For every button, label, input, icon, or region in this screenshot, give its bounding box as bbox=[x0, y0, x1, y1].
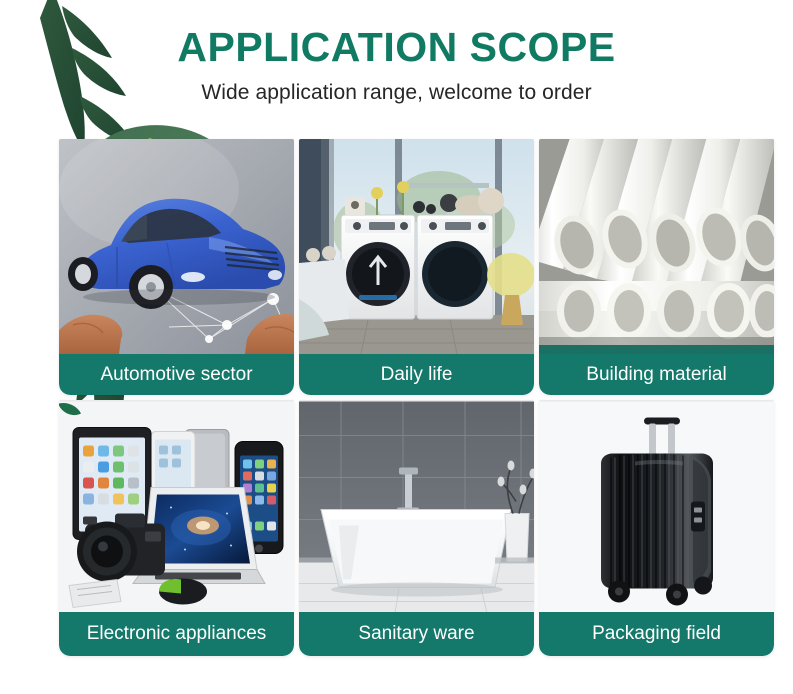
application-card-automotive[interactable]: Automotive sector bbox=[59, 139, 294, 395]
application-card-daily-life[interactable]: Daily life bbox=[299, 139, 534, 395]
page-title: APPLICATION SCOPE bbox=[0, 0, 793, 69]
automotive-photo bbox=[59, 139, 294, 354]
card-label-sanitary-ware: Sanitary ware bbox=[299, 612, 534, 656]
card-label-electronic-appliances: Electronic appliances bbox=[59, 612, 294, 656]
electronic-appliances-photo bbox=[59, 400, 294, 612]
page-subtitle: Wide application range, welcome to order bbox=[0, 69, 793, 105]
card-label-automotive: Automotive sector bbox=[59, 354, 294, 395]
building-material-photo bbox=[539, 139, 774, 354]
application-card-packaging-field[interactable]: Packaging field bbox=[539, 400, 774, 656]
application-card-sanitary-ware[interactable]: Sanitary ware bbox=[299, 400, 534, 656]
card-label-building-material: Building material bbox=[539, 354, 774, 395]
banner-header: APPLICATION SCOPE Wide application range… bbox=[0, 0, 793, 105]
application-card-electronic-appliances[interactable]: Electronic appliances bbox=[59, 400, 294, 656]
daily-life-photo bbox=[299, 139, 534, 354]
card-label-packaging-field: Packaging field bbox=[539, 612, 774, 656]
sanitary-ware-photo bbox=[299, 400, 534, 612]
card-label-daily-life: Daily life bbox=[299, 354, 534, 395]
application-card-building-material[interactable]: Building material bbox=[539, 139, 774, 395]
packaging-field-photo bbox=[539, 400, 774, 612]
application-card-grid: Automotive sector bbox=[59, 139, 734, 656]
application-scope-banner: APPLICATION SCOPE Wide application range… bbox=[0, 0, 793, 694]
